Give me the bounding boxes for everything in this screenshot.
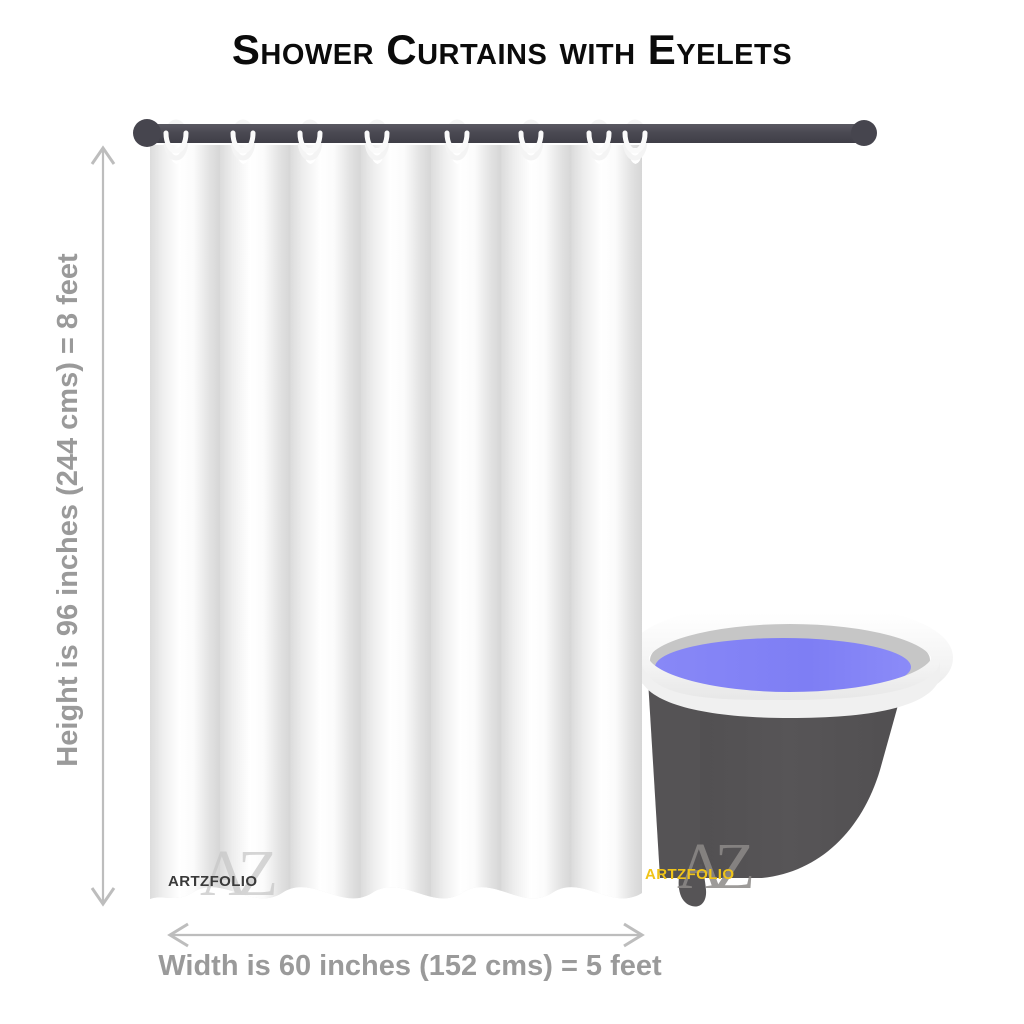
- rod-finial-right: [851, 120, 877, 146]
- height-dimension-label: Height is 96 inches (244 cms) = 8 feet: [48, 130, 88, 890]
- bathtub-foot: [679, 864, 706, 907]
- width-dimension-label: Width is 60 inches (152 cms) = 5 feet: [60, 950, 760, 983]
- bathtub-body-left: [648, 680, 700, 878]
- bathtub: [638, 613, 942, 907]
- diagram-artwork: [0, 0, 1024, 1024]
- width-dimension-arrow: [170, 924, 642, 946]
- shower-curtain: [150, 140, 642, 900]
- product-dimension-diagram: Shower Curtains with Eyelets: [0, 0, 1024, 1024]
- height-dimension-arrow: [92, 148, 114, 904]
- rod-finial-left: [133, 119, 161, 147]
